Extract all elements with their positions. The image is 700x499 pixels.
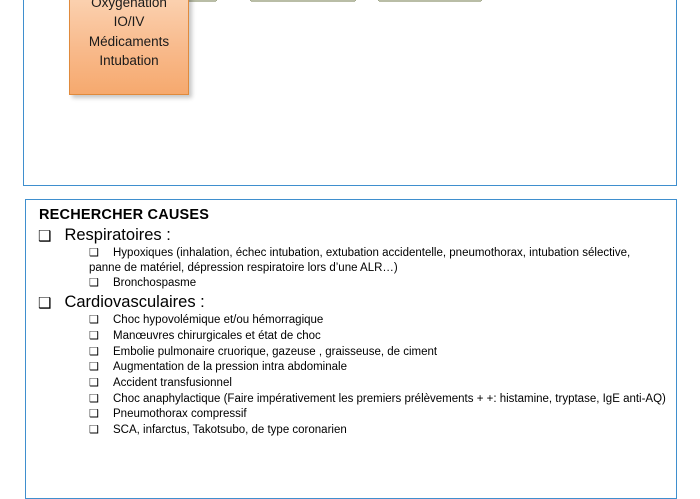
list-item: ❑ Augmentation de la pression intra abdo… [89, 360, 668, 375]
flow-box-stub-3 [378, 0, 482, 1]
list-item-text: Accident transfusionnel [113, 376, 232, 391]
list-item-text: Bronchospasme [113, 276, 196, 291]
page-title: RECHERCHER CAUSES [39, 207, 668, 223]
list-item: ❑ Choc hypovolémique et/ou hémorragique [89, 313, 668, 328]
list-item: ❑ Bronchospasme [89, 276, 668, 291]
checkbox-icon[interactable]: ❑ [89, 315, 113, 326]
checkbox-icon[interactable]: ❑ [89, 331, 113, 342]
checkbox-icon[interactable]: ❑ [38, 229, 51, 244]
list-item-text-continuation: panne de matériel, dépression respiratoi… [89, 261, 630, 276]
rechercher-causes-panel: RECHERCHER CAUSES ❑ Respiratoires : ❑ Hy… [25, 199, 677, 499]
flow-box-stub-2 [250, 0, 356, 1]
action-box-ventilation[interactable]: Ventilation/ Oxygénation IO/IV Médicamen… [69, 0, 189, 95]
checkbox-icon[interactable]: ❑ [89, 278, 113, 289]
list-item-text: SCA, infarctus, Takotsubo, de type coron… [113, 423, 347, 438]
action-box-line-3: IO/IV [114, 13, 145, 32]
list-item: ❑ Pneumothorax compressif [89, 407, 668, 422]
list-item-text: Augmentation de la pression intra abdomi… [113, 360, 347, 375]
checkbox-icon[interactable]: ❑ [89, 378, 113, 389]
checkbox-icon[interactable]: ❑ [89, 248, 113, 259]
checkbox-icon[interactable]: ❑ [89, 362, 113, 373]
list-item: ❑ Hypoxiques (inhalation, échec intubati… [89, 246, 668, 275]
list-item: ❑ Choc anaphylactique (Faire impérativem… [89, 392, 668, 407]
action-box-line-5: Intubation [99, 52, 158, 71]
list-item: ❑ Manœuvres chirurgicales et état de cho… [89, 329, 668, 344]
list-item: ❑ Accident transfusionnel [89, 376, 668, 391]
action-box-line-4: Médicaments [89, 33, 169, 52]
list-item: ❑ SCA, infarctus, Takotsubo, de type cor… [89, 423, 668, 438]
action-box-line-2: Oxygénation [91, 0, 167, 12]
list-item-text: Choc hypovolémique et/ou hémorragique [113, 313, 323, 328]
list-item-text: Hypoxiques (inhalation, échec intubation… [113, 246, 630, 275]
checkbox-icon[interactable]: ❑ [38, 296, 51, 311]
list-item-text: Embolie pulmonaire cruorique, gazeuse , … [113, 345, 437, 360]
checkbox-icon[interactable]: ❑ [89, 394, 113, 405]
list-item-text: Pneumothorax compressif [113, 407, 247, 422]
checkbox-icon[interactable]: ❑ [89, 425, 113, 436]
algorithm-diagram-panel: Ventilation/ Oxygénation IO/IV Médicamen… [23, 0, 677, 186]
section-header-cardiovasculaires: ❑ Cardiovasculaires : [38, 293, 668, 312]
section-header-respiratoires: ❑ Respiratoires : [38, 226, 668, 245]
list-item-text: Manœuvres chirurgicales et état de choc [113, 329, 321, 344]
checkbox-icon[interactable]: ❑ [89, 347, 113, 358]
list-item: ❑ Embolie pulmonaire cruorique, gazeuse … [89, 345, 668, 360]
list-item-text: Choc anaphylactique (Faire impérativemen… [113, 392, 666, 407]
section-label: Cardiovasculaires : [64, 293, 204, 312]
section-label: Respiratoires : [64, 226, 170, 245]
checkbox-icon[interactable]: ❑ [89, 409, 113, 420]
